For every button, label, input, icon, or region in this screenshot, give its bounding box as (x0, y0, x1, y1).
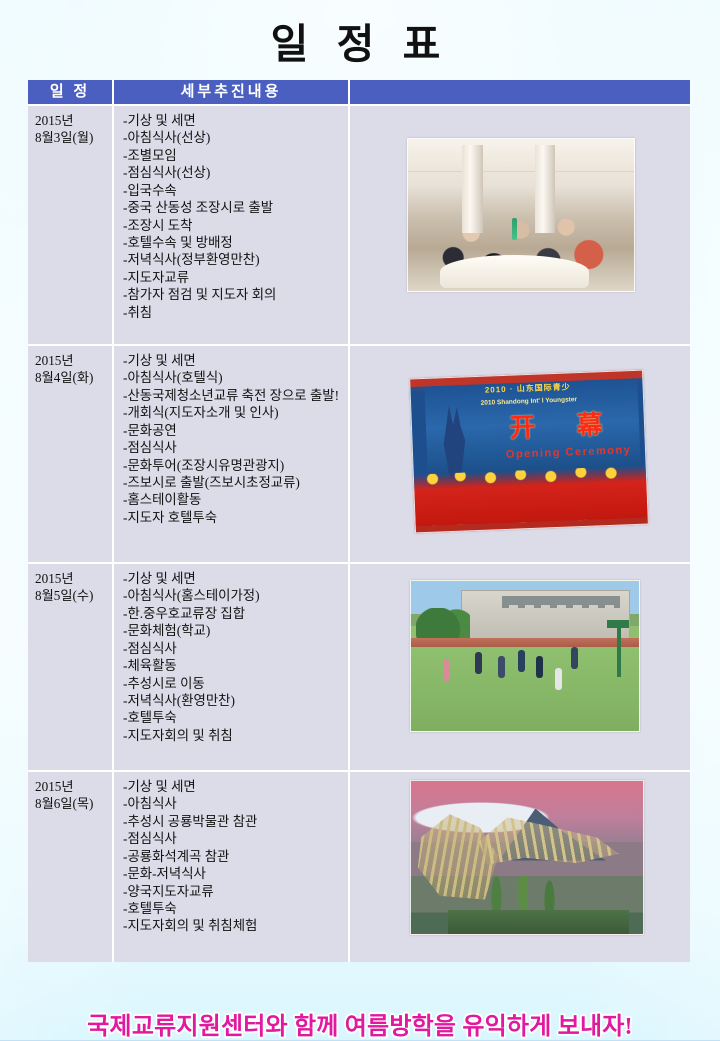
schedule-table-container: 일 정 세부추진내용 2015년 8월3일(월) -기상 및 세면 -아침식사(… (28, 80, 690, 962)
table-header-row: 일 정 세부추진내용 (28, 80, 690, 106)
schoolyard-sports-photo (410, 580, 640, 732)
detail-item: -홈스테이활동 (123, 491, 344, 508)
cell-date: 2015년 8월4일(화) (28, 346, 114, 564)
detail-item: -아침식사(선상) (123, 129, 344, 146)
date-day: 8월5일(수) (35, 587, 108, 604)
column-header-date: 일 정 (28, 80, 114, 106)
detail-item: -조장시 도착 (123, 217, 344, 234)
column-header-photo (350, 80, 690, 106)
detail-item: -조별모임 (123, 147, 344, 164)
detail-item: -지도자교류 (123, 269, 344, 286)
detail-item: -양국지도자교류 (123, 883, 344, 900)
date-year: 2015년 (35, 112, 108, 129)
detail-item: -저녁식사(정부환영만찬) (123, 251, 344, 268)
page-title-area: 일 정 표 (0, 22, 720, 67)
windows-grid (502, 596, 620, 608)
cell-detail: -기상 및 세면 -아침식사 -추성시 공룡박물관 참관 -점심식사 -공룡화석… (114, 772, 350, 962)
cell-date: 2015년 8월3일(월) (28, 106, 114, 346)
cell-date: 2015년 8월5일(수) (28, 564, 114, 772)
pillar (535, 145, 555, 233)
student-figure (536, 656, 543, 678)
detail-item: -중국 산동성 조장시로 출발 (123, 199, 344, 216)
detail-item: -지도자회의 및 취침체험 (123, 917, 344, 934)
student-figure (571, 647, 578, 669)
cell-detail: -기상 및 세면 -아침식사(홈스테이가정) -한.중우호교류장 집합 -문화체… (114, 564, 350, 772)
detail-item: -체육활동 (123, 657, 344, 674)
pillar (462, 145, 482, 233)
cell-photo (350, 564, 690, 772)
detail-item: -문화체험(학교) (123, 622, 344, 639)
date-year: 2015년 (35, 778, 108, 795)
footer-slogan: 국제교류지원센터와 함께 여름방학을 유익하게 보내자! (87, 1014, 632, 1040)
table-row: 2015년 8월3일(월) -기상 및 세면 -아침식사(선상) -조별모임 -… (28, 106, 690, 346)
table-row: 2015년 8월4일(화) -기상 및 세면 -아침식사(호텔식) -산동국제청… (28, 346, 690, 564)
student-figure (555, 668, 562, 690)
bottle (512, 218, 517, 240)
detail-item: -기상 및 세면 (123, 352, 344, 369)
detail-item: -점심식사(선상) (123, 164, 344, 181)
date-day: 8월6일(목) (35, 795, 108, 812)
table-row: 2015년 8월5일(수) -기상 및 세면 -아침식사(홈스테이가정) -한.… (28, 564, 690, 772)
page-title: 일 정 표 (0, 22, 720, 67)
detail-item: -기상 및 세면 (123, 778, 344, 795)
detail-item: -호텔투숙 (123, 709, 344, 726)
table-row: 2015년 8월6일(목) -기상 및 세면 -아침식사 -추성시 공룡박물관 … (28, 772, 690, 962)
date-year: 2015년 (35, 352, 108, 369)
round-table (440, 255, 589, 288)
date-day: 8월4일(화) (35, 369, 108, 386)
banner-line-3: 开 幕 (509, 408, 619, 446)
detail-item: -아침식사(홈스테이가정) (123, 587, 344, 604)
detail-item: -아침식사 (123, 795, 344, 812)
cell-photo (350, 106, 690, 346)
detail-item: -지도자 호텔투숙 (123, 509, 344, 526)
running-track (411, 638, 639, 647)
detail-item: -기상 및 세면 (123, 570, 344, 587)
detail-item: -추성시로 이동 (123, 675, 344, 692)
footer-area: 국제교류지원센터와 함께 여름방학을 유익하게 보내자! (0, 1006, 720, 1041)
table-header: 일 정 세부추진내용 (28, 80, 690, 106)
detail-item: -기상 및 세면 (123, 112, 344, 129)
detail-item: -공룡화석계곡 참관 (123, 848, 344, 865)
table-body: 2015년 8월3일(월) -기상 및 세면 -아침식사(선상) -조별모임 -… (28, 106, 690, 962)
cell-photo (350, 772, 690, 962)
detail-item: -취침 (123, 304, 344, 321)
detail-item: -즈보시로 출발(즈보시초정교류) (123, 474, 344, 491)
detail-item: -개회식(지도자소개 및 인사) (123, 404, 344, 421)
detail-item: -지도자회의 및 취침 (123, 727, 344, 744)
exhibit-base (448, 910, 629, 934)
detail-item: -한.중우호교류장 집합 (123, 605, 344, 622)
detail-item: -호텔투숙 (123, 900, 344, 917)
opening-ceremony-photo: 2010 · 山东国际青少 2010 Shandong Int' l Young… (409, 370, 649, 534)
detail-item: -점심식사 (123, 640, 344, 657)
dancers-row (414, 465, 648, 526)
detail-item: -입국수속 (123, 182, 344, 199)
student-figure (498, 656, 505, 678)
cell-photo: 2010 · 山东国际青少 2010 Shandong Int' l Young… (350, 346, 690, 564)
schedule-table: 일 정 세부추진내용 2015년 8월3일(월) -기상 및 세면 -아침식사(… (28, 80, 690, 962)
detail-item: -점심식사 (123, 830, 344, 847)
detail-item: -호텔수속 및 방배정 (123, 234, 344, 251)
cell-date: 2015년 8월6일(목) (28, 772, 114, 962)
column-header-detail: 세부추진내용 (114, 80, 350, 106)
detail-item: -문화투어(조장시유명관광지) (123, 457, 344, 474)
detail-item: -참가자 점검 및 지도자 회의 (123, 286, 344, 303)
ceiling-band (408, 139, 634, 172)
detail-item: -아침식사(호텔식) (123, 369, 344, 386)
basketball-hoop-icon (617, 626, 621, 677)
detail-item: -추성시 공룡박물관 참관 (123, 813, 344, 830)
detail-item: -문화-저녁식사 (123, 865, 344, 882)
detail-item: -산동국제청소년교류 축전 장으로 출발! (123, 387, 344, 404)
detail-item: -점심식사 (123, 439, 344, 456)
school-building (461, 590, 630, 641)
cell-detail: -기상 및 세면 -아침식사(선상) -조별모임 -점심식사(선상) -입국수속… (114, 106, 350, 346)
student-figure (518, 650, 525, 672)
detail-item: -문화공연 (123, 422, 344, 439)
student-figure (475, 652, 482, 674)
date-year: 2015년 (35, 570, 108, 587)
dinosaur-museum-photo (410, 780, 644, 935)
cell-detail: -기상 및 세면 -아침식사(호텔식) -산동국제청소년교류 축전 장으로 출발… (114, 346, 350, 564)
detail-item: -저녁식사(환영만찬) (123, 692, 344, 709)
student-figure (443, 659, 450, 681)
date-day: 8월3일(월) (35, 129, 108, 146)
banquet-hall-photo (407, 138, 635, 292)
